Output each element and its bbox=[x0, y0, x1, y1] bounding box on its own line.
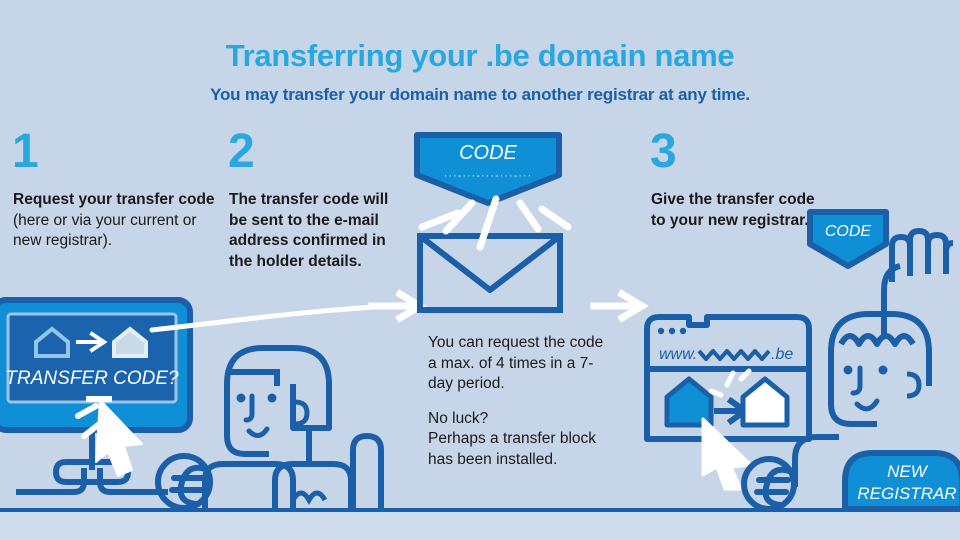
envelope-sparkles bbox=[400, 195, 590, 265]
step-3-heading: Give the transfer code to your new regis… bbox=[651, 191, 815, 229]
step-1-text: Request your transfer code (here or via … bbox=[13, 190, 223, 252]
person-right-eye-2 bbox=[879, 366, 888, 375]
step-2-number: 2 bbox=[228, 128, 255, 176]
person-left-eye-2 bbox=[268, 394, 277, 403]
person-left-eye-1 bbox=[237, 394, 246, 403]
euro-bars-right bbox=[757, 480, 788, 492]
step-3-text: Give the transfer code to your new regis… bbox=[651, 190, 821, 231]
monitor-screen-label-text: TRANSFER CODE? bbox=[5, 368, 179, 389]
code-badge-label: CODE bbox=[825, 223, 872, 240]
browser-dot-3 bbox=[680, 328, 686, 334]
person-right-ear bbox=[907, 374, 919, 396]
page-subtitle: You may transfer your domain name to ano… bbox=[0, 85, 960, 105]
browser-url-prefix: www. bbox=[659, 346, 697, 363]
note-no-luck: No luck? Perhaps a transfer block has be… bbox=[428, 409, 608, 471]
hand-finger-4 bbox=[946, 243, 953, 274]
page-title: Transferring your .be domain name bbox=[0, 38, 960, 74]
person-left-body bbox=[275, 464, 351, 508]
person-left-collar bbox=[293, 493, 325, 500]
person-left-arm bbox=[353, 436, 381, 508]
note-no-luck-body: Perhaps a transfer block has been instal… bbox=[428, 430, 596, 468]
person-right-nose bbox=[853, 368, 860, 393]
person-right-hair bbox=[841, 336, 913, 344]
euro-bars bbox=[172, 478, 204, 490]
person-right-head bbox=[831, 314, 929, 352]
new-registrar-line2: REGISTRAR bbox=[857, 484, 956, 503]
person-left-head bbox=[227, 348, 329, 428]
person-right-jaw bbox=[831, 352, 877, 424]
notes-block: You can request the code a max. of 4 tim… bbox=[428, 333, 608, 470]
new-registrar-badge: NEW REGISTRAR bbox=[841, 449, 960, 511]
infographic-canvas: Transferring your .be domain name You ma… bbox=[0, 0, 960, 540]
code-banner-masked-value: ···-···-···-···-··· bbox=[444, 170, 533, 182]
person-right-mouth bbox=[857, 401, 877, 409]
code-banner-label: CODE bbox=[459, 142, 517, 164]
browser-url-suffix: .be bbox=[771, 346, 793, 363]
note-no-luck-title: No luck? bbox=[428, 410, 488, 427]
browser-sparkle bbox=[711, 371, 749, 395]
note-max-requests: You can request the code a max. of 4 tim… bbox=[428, 333, 608, 395]
browser-url-squiggle bbox=[699, 351, 769, 359]
monitor-screen-label: TRANSFER CODE? bbox=[5, 368, 179, 389]
step-2-text: The transfer code will be sent to the e-… bbox=[229, 190, 394, 272]
step-2-heading: The transfer code will be sent to the e-… bbox=[229, 191, 388, 270]
person-left-mouth bbox=[249, 429, 267, 436]
step-1-body: (here or via your current or new registr… bbox=[13, 212, 197, 250]
person-left-nose bbox=[246, 396, 252, 420]
browser-dot-1 bbox=[658, 328, 664, 334]
euro-coin-icon-right bbox=[735, 455, 815, 513]
euro-coin-icon bbox=[150, 452, 230, 512]
step-1-heading: Request your transfer code bbox=[13, 191, 215, 208]
ground-strip bbox=[0, 512, 960, 540]
person-left-hair bbox=[227, 372, 277, 386]
browser-dot-2 bbox=[669, 328, 675, 334]
person-right-eye-1 bbox=[844, 366, 853, 375]
step-1-number: 1 bbox=[12, 128, 39, 176]
person-icon-left bbox=[205, 330, 380, 515]
step-3-number: 3 bbox=[650, 128, 677, 176]
new-registrar-line1: NEW bbox=[887, 462, 929, 481]
person-left-ear bbox=[295, 402, 307, 424]
